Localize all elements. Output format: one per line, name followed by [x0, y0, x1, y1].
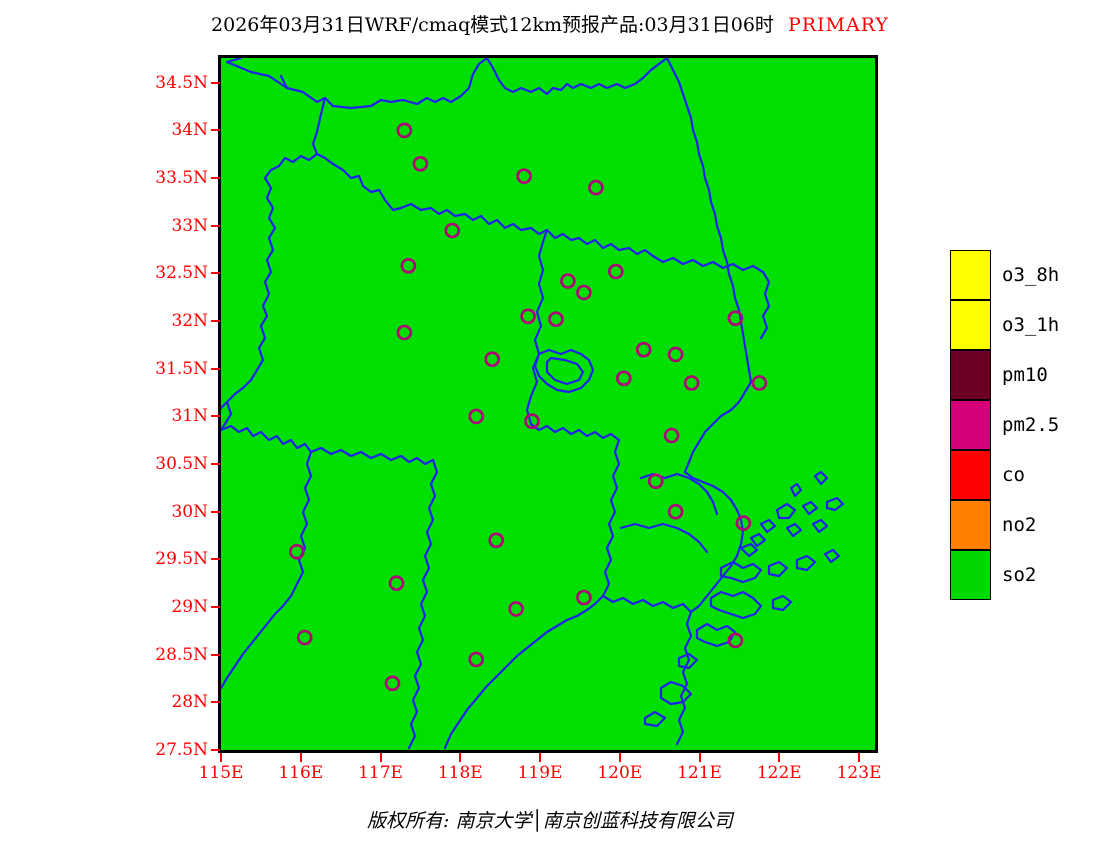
y-axis-tick-label: 33N	[130, 216, 208, 236]
x-axis-tick	[858, 753, 860, 762]
x-axis-tick-label: 116E	[278, 763, 323, 783]
title-primary-tag: PRIMARY	[788, 14, 889, 36]
y-axis-tick	[211, 320, 220, 322]
y-axis-tick	[211, 225, 220, 227]
y-axis-tick	[211, 129, 220, 131]
x-axis-tick	[699, 753, 701, 762]
legend-color-swatch	[950, 400, 991, 450]
x-axis-tick-label: 115E	[199, 763, 244, 783]
copyright-footer: 版权所有: 南京大学│南京创蓝科技有限公司	[0, 806, 1100, 833]
legend-label: co	[1002, 464, 1025, 486]
y-axis-tick-label: 31.5N	[130, 359, 208, 379]
y-axis-tick	[211, 701, 220, 703]
y-axis-tick	[211, 654, 220, 656]
y-axis-tick-label: 32N	[130, 311, 208, 331]
x-axis-tick-label: 117E	[358, 763, 403, 783]
legend-label: o3_1h	[1002, 314, 1059, 336]
x-axis-tick	[778, 753, 780, 762]
legend-color-swatch	[950, 300, 991, 350]
x-axis-tick	[300, 753, 302, 762]
map-vector-layer	[221, 58, 875, 750]
page-title: 2026年03月31日WRF/cmaq模式12km预报产品:03月31日06时P…	[0, 10, 1100, 37]
map-fill-so2	[221, 58, 875, 750]
legend-label: pm10	[1002, 364, 1048, 386]
y-axis-tick	[211, 82, 220, 84]
x-axis-tick	[220, 753, 222, 762]
title-main-text: 2026年03月31日WRF/cmaq模式12km预报产品:03月31日06时	[211, 14, 774, 36]
y-axis-tick-label: 30.5N	[130, 454, 208, 474]
legend-color-swatch	[950, 250, 991, 300]
y-axis-tick	[211, 511, 220, 513]
x-axis-tick	[619, 753, 621, 762]
forecast-map[interactable]	[218, 55, 878, 753]
y-axis-tick-label: 34.5N	[130, 73, 208, 93]
y-axis-tick	[211, 415, 220, 417]
x-axis-tick	[459, 753, 461, 762]
y-axis-tick	[211, 749, 220, 751]
x-axis-tick	[539, 753, 541, 762]
y-axis-tick-label: 33.5N	[130, 168, 208, 188]
y-axis-tick-label: 28.5N	[130, 645, 208, 665]
legend-color-swatch	[950, 450, 991, 500]
x-axis-tick-label: 118E	[438, 763, 483, 783]
y-axis-tick-label: 29.5N	[130, 549, 208, 569]
y-axis-tick	[211, 463, 220, 465]
y-axis-tick-label: 31N	[130, 406, 208, 426]
y-axis-tick-label: 30N	[130, 502, 208, 522]
legend-label: pm2.5	[1002, 414, 1059, 436]
legend-color-swatch	[950, 350, 991, 400]
x-axis-tick-label: 123E	[837, 763, 882, 783]
x-axis-tick-label: 120E	[597, 763, 642, 783]
y-axis-tick	[211, 368, 220, 370]
legend-label: no2	[1002, 514, 1036, 536]
x-axis-tick-label: 119E	[518, 763, 563, 783]
y-axis-tick-label: 34N	[130, 120, 208, 140]
y-axis-tick-label: 28N	[130, 692, 208, 712]
copyright-text: 版权所有: 南京大学│南京创蓝科技有限公司	[367, 810, 733, 832]
x-axis-tick	[380, 753, 382, 762]
y-axis-tick	[211, 272, 220, 274]
y-axis-tick-label: 32.5N	[130, 263, 208, 283]
x-axis-tick-label: 121E	[677, 763, 722, 783]
y-axis-tick	[211, 177, 220, 179]
x-axis-tick-label: 122E	[757, 763, 802, 783]
legend-color-swatch	[950, 550, 991, 600]
legend-color-swatch	[950, 500, 991, 550]
y-axis-tick-label: 29N	[130, 597, 208, 617]
legend-label: so2	[1002, 564, 1036, 586]
legend-label: o3_8h	[1002, 264, 1059, 286]
y-axis-tick	[211, 606, 220, 608]
y-axis-tick	[211, 558, 220, 560]
y-axis-tick-label: 27.5N	[130, 740, 208, 760]
